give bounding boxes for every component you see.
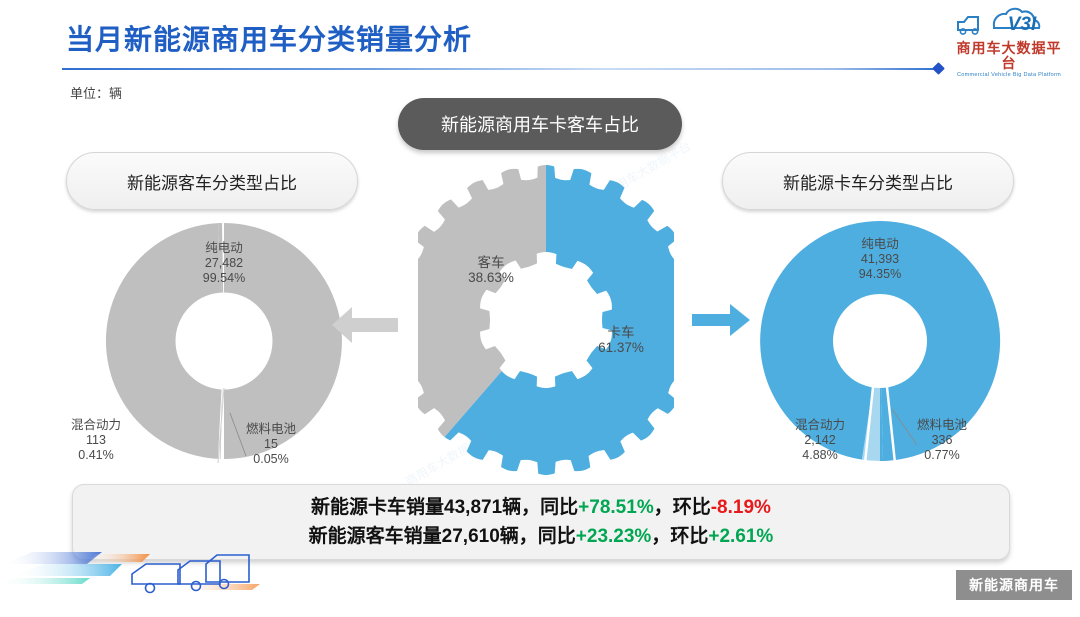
label-bus-share: 客车 38.63% xyxy=(436,255,546,285)
label-bus-pure-electric: 纯电动 27,482 99.54% xyxy=(124,241,324,286)
summary-truck-mom: -8.19% xyxy=(711,497,771,518)
label-truck-fuel-cell: 燃料电池 336 0.77% xyxy=(862,418,1022,463)
chart-bus-type-share: 纯电动 27,482 99.54% 混合动力 113 0.41% 燃料电池 15… xyxy=(96,213,352,469)
truck-cloud-icon: V3I xyxy=(950,6,1068,42)
label-truck-share: 卡车 61.37% xyxy=(566,325,676,355)
title-divider-dot xyxy=(932,62,945,75)
summary-bus-yoy: +23.23% xyxy=(576,526,652,547)
gear-donut-svg xyxy=(418,160,674,480)
summary-truck-yoy: +78.51% xyxy=(578,497,654,518)
summary-line-bus: 新能源客车销量27,610辆，同比+23.23%，环比+2.61% xyxy=(309,522,774,551)
summary-bus-pre: 新能源客车销量27,610辆，同比 xyxy=(309,526,576,547)
chart-commercial-vehicle-share: 客车 38.63% 卡车 61.37% xyxy=(418,160,674,480)
summary-bus-mid: ，环比 xyxy=(651,526,708,547)
arrow-left-icon xyxy=(330,305,400,350)
logo-name-en: Commercial Vehicle Big Data Platform xyxy=(950,71,1068,79)
page-title: 当月新能源商用车分类销量分析 xyxy=(66,18,472,58)
arrow-right-icon xyxy=(690,302,752,343)
label-bus-fuel-cell: 燃料电池 15 0.05% xyxy=(191,422,351,467)
summary-line-truck: 新能源卡车销量43,871辆，同比+78.51%，环比-8.19% xyxy=(311,493,771,522)
brand-logo: V3I 商用车大数据平台 Commercial Vehicle Big Data… xyxy=(950,6,1068,68)
title-divider xyxy=(62,68,938,70)
logo-mark: V3I xyxy=(950,6,1068,42)
label-truck-pure-electric: 纯电动 41,393 94.35% xyxy=(780,237,980,282)
logo-name-cn: 商用车大数据平台 xyxy=(950,41,1068,71)
chart-title-truck: 新能源卡车分类型占比 xyxy=(722,152,1014,210)
chart-title-bus: 新能源客车分类型占比 xyxy=(66,152,358,210)
slide-root: 当月新能源商用车分类销量分析 单位：辆 V3I 商用车大数据平台 Commerc… xyxy=(0,0,1080,608)
summary-truck-mid: ，环比 xyxy=(654,497,711,518)
summary-bus-mom: +2.61% xyxy=(708,526,773,547)
footer-badge: 新能源商用车 xyxy=(956,570,1072,600)
svg-text:V3I: V3I xyxy=(1008,14,1037,35)
label-bus-hybrid: 混合动力 113 0.41% xyxy=(16,418,176,463)
summary-truck-pre: 新能源卡车销量43,871辆，同比 xyxy=(311,497,578,518)
chart-truck-type-share: 纯电动 41,393 94.35% 混合动力 2,142 4.88% 燃料电池 … xyxy=(752,213,1008,469)
truck-decoration-graphic xyxy=(0,532,312,612)
unit-label: 单位：辆 xyxy=(70,83,122,102)
chart-title-center: 新能源商用车卡客车占比 xyxy=(398,98,682,150)
